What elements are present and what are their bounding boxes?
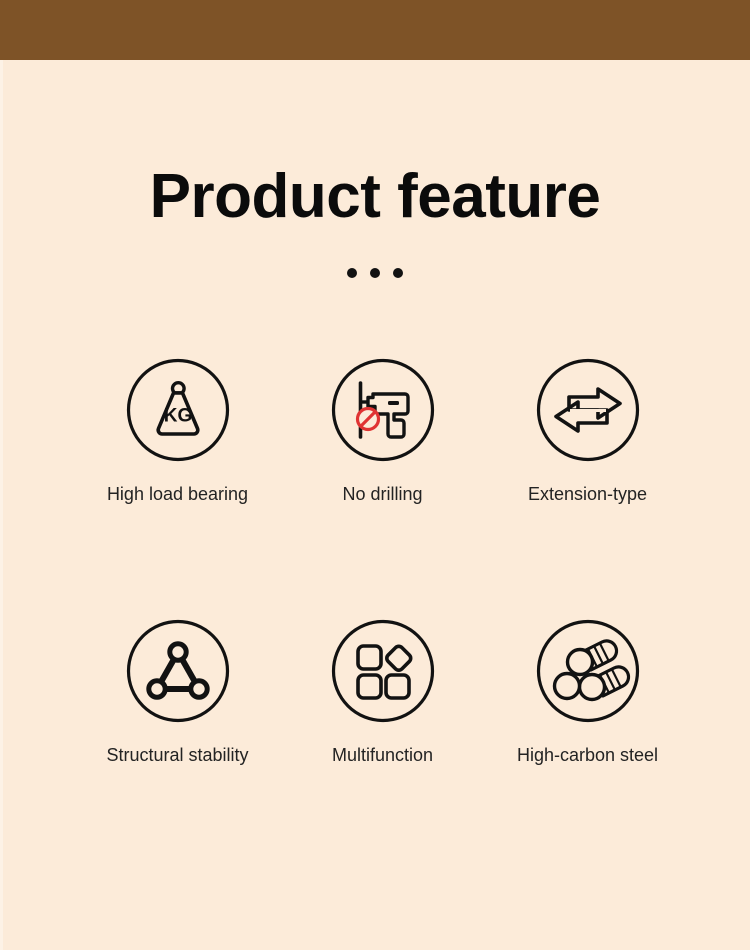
top-brown-band <box>0 0 750 60</box>
kg-weight-icon: KG <box>126 358 230 462</box>
feature-row: KG High load bearing <box>55 358 695 506</box>
no-drilling-icon <box>331 358 435 462</box>
feature-grid: KG High load bearing <box>55 358 695 766</box>
feature-label: High load bearing <box>107 484 248 506</box>
triangle-nodes-icon <box>126 619 230 723</box>
feature-label: No drilling <box>342 484 422 506</box>
three-dots-separator <box>0 268 750 278</box>
product-feature-page: Product feature KG High load bearing <box>0 0 750 950</box>
multifunction-shapes-icon <box>331 619 435 723</box>
feature-item-multifunction: Multifunction <box>280 619 485 767</box>
feature-item-structural-stability: Structural stability <box>75 619 280 767</box>
feature-item-high-carbon-steel: High-carbon steel <box>485 619 690 767</box>
feature-label: Extension-type <box>528 484 647 506</box>
feature-label: Structural stability <box>106 745 248 767</box>
feature-row: Structural stability Multifunction <box>55 619 695 767</box>
header-block: Product feature <box>0 166 750 278</box>
steel-rods-icon <box>536 619 640 723</box>
page-title: Product feature <box>0 166 750 228</box>
separator-dot <box>393 268 403 278</box>
feature-item-high-load-bearing: KG High load bearing <box>75 358 280 506</box>
kg-icon-text: KG <box>163 406 192 427</box>
feature-label: High-carbon steel <box>517 745 658 767</box>
separator-dot <box>347 268 357 278</box>
feature-label: Multifunction <box>332 745 433 767</box>
feature-item-no-drilling: No drilling <box>280 358 485 506</box>
feature-item-extension-type: Extension-type <box>485 358 690 506</box>
separator-dot <box>370 268 380 278</box>
extension-arrows-icon <box>536 358 640 462</box>
